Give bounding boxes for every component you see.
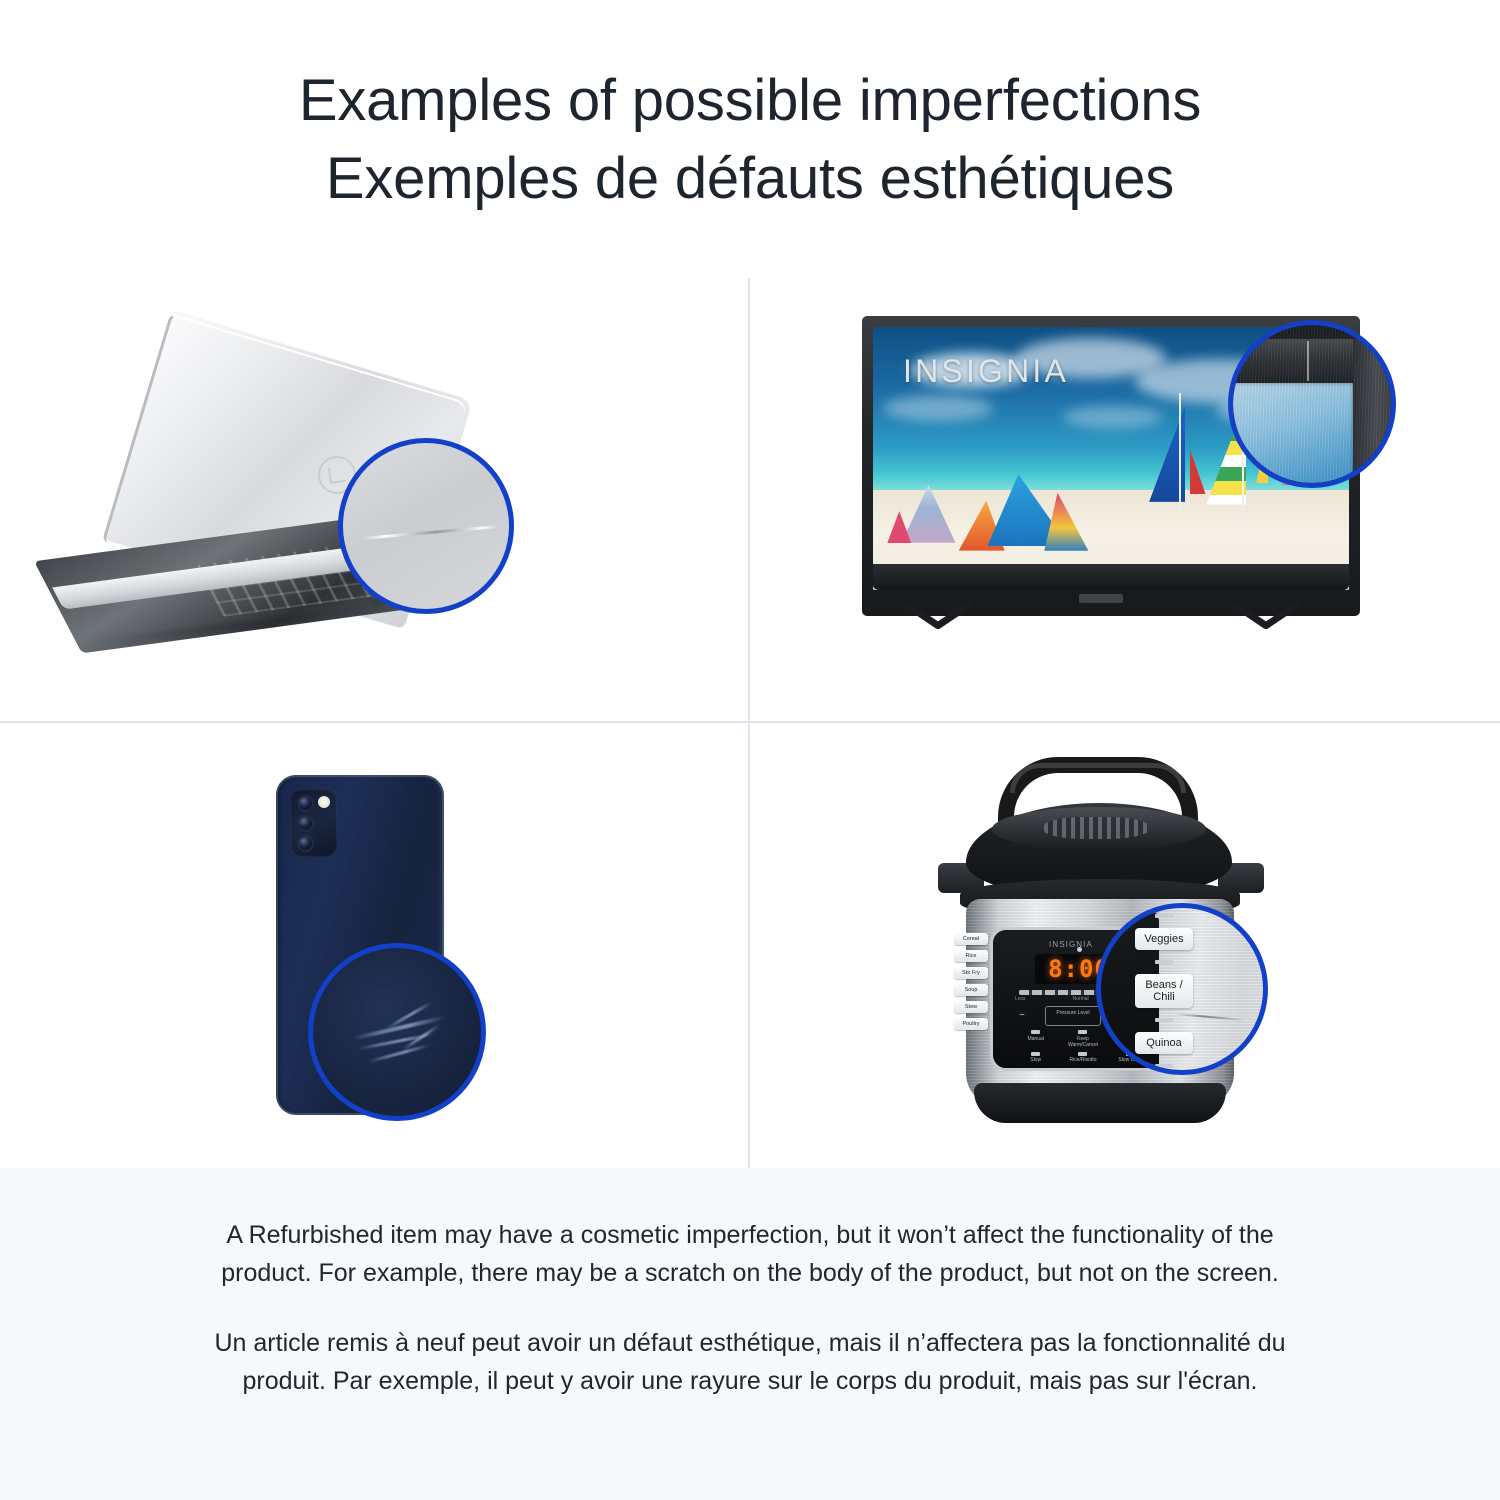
cooker-button[interactable]: Cereal bbox=[954, 933, 988, 945]
cooker-magnifier-circle-icon: Veggies Beans / Chili Quinoa Cake bbox=[1096, 903, 1268, 1075]
cooker-brand-logo: INSIGNIA bbox=[1049, 940, 1093, 949]
cooker-key[interactable]: Keep Warm/Cancel bbox=[1062, 1030, 1103, 1048]
cooker-key-label: Slow bbox=[1030, 1057, 1041, 1063]
page-header: Examples of possible imperfections Exemp… bbox=[0, 0, 1500, 218]
page-title-fr: Exemples de défauts esthétiques bbox=[0, 140, 1500, 218]
cooker-base bbox=[974, 1083, 1226, 1123]
tv-magnifier-circle-icon bbox=[1228, 320, 1396, 488]
laptop-illustration bbox=[0, 278, 748, 721]
tv-front-badge bbox=[1079, 594, 1123, 603]
cooker-key[interactable]: Rice/Risotto bbox=[1062, 1052, 1103, 1064]
cooker-button[interactable]: Stew bbox=[954, 1001, 988, 1013]
cooker-key-label: Rice/Risotto bbox=[1070, 1057, 1097, 1063]
product-example-grid: INSIGNIA bbox=[0, 278, 1500, 1168]
tile-laptop bbox=[0, 278, 750, 723]
phone-camera-module bbox=[290, 789, 337, 857]
tv-stand-right bbox=[1222, 612, 1318, 666]
footer-disclaimer: A Refurbished item may have a cosmetic i… bbox=[0, 1168, 1500, 1500]
cooker-steam-vent bbox=[1044, 817, 1148, 839]
cooker-key-label: Manual bbox=[1027, 1036, 1043, 1042]
phone-flash-icon bbox=[318, 796, 330, 808]
tile-phone bbox=[0, 723, 750, 1168]
tile-pressure-cooker: Cereal Rice Stir Fry Soup Stew Poultry S… bbox=[750, 723, 1500, 1168]
disclaimer-fr: Un article remis à neuf peut avoir un dé… bbox=[190, 1324, 1310, 1400]
cooker-left-button-column[interactable]: Cereal Rice Stir Fry Soup Stew Poultry bbox=[954, 933, 988, 1030]
cooker-magnified-button: Beans / Chili bbox=[1135, 974, 1193, 1008]
laptop-magnifier-circle-icon bbox=[338, 438, 514, 614]
cooker-meter-label-less: Less bbox=[1015, 996, 1026, 1002]
tile-tv: INSIGNIA bbox=[750, 278, 1500, 723]
cooker-minus-icon[interactable]: − bbox=[1019, 1010, 1025, 1021]
tv-brand-logo: INSIGNIA bbox=[903, 353, 1069, 390]
cooker-pressure-level-button[interactable]: Pressure Level bbox=[1045, 1006, 1101, 1026]
cooker-illustration: Cereal Rice Stir Fry Soup Stew Poultry S… bbox=[750, 723, 1500, 1168]
cooker-magnified-buttons: Veggies Beans / Chili Quinoa Cake bbox=[1135, 914, 1193, 1070]
cooker-key[interactable]: Manual bbox=[1015, 1030, 1056, 1048]
cooker-magnified-button: Quinoa bbox=[1135, 1032, 1193, 1054]
page-title-en: Examples of possible imperfections bbox=[0, 62, 1500, 140]
phone-magnifier-circle-icon bbox=[308, 943, 486, 1121]
cooker-magnified-button: Veggies bbox=[1135, 928, 1193, 950]
cooker-meter-label-normal: Normal bbox=[1073, 996, 1089, 1002]
phone-illustration bbox=[0, 723, 748, 1168]
cooker-button[interactable]: Poultry bbox=[954, 1018, 988, 1030]
tv-illustration: INSIGNIA bbox=[750, 278, 1500, 721]
cooker-indicator-led bbox=[1077, 947, 1082, 952]
phone-lens-2-icon bbox=[297, 815, 314, 832]
cooker-key-label: Keep Warm/Cancel bbox=[1068, 1036, 1098, 1048]
cooker-pressure-level-label: Pressure Level bbox=[1056, 1010, 1089, 1016]
cooker-button[interactable]: Soup bbox=[954, 984, 988, 996]
phone-lens-1-icon bbox=[297, 795, 314, 812]
phone-lens-3-icon bbox=[297, 835, 314, 852]
cooker-button[interactable]: Rice bbox=[954, 950, 988, 962]
disclaimer-en: A Refurbished item may have a cosmetic i… bbox=[190, 1216, 1310, 1292]
cooker-key[interactable]: Slow bbox=[1015, 1052, 1056, 1064]
cooker-handle-highlight bbox=[1010, 763, 1186, 793]
tv-stand-left bbox=[894, 612, 990, 666]
cooker-button[interactable]: Stir Fry bbox=[954, 967, 988, 979]
laptop-scratch bbox=[361, 525, 499, 540]
